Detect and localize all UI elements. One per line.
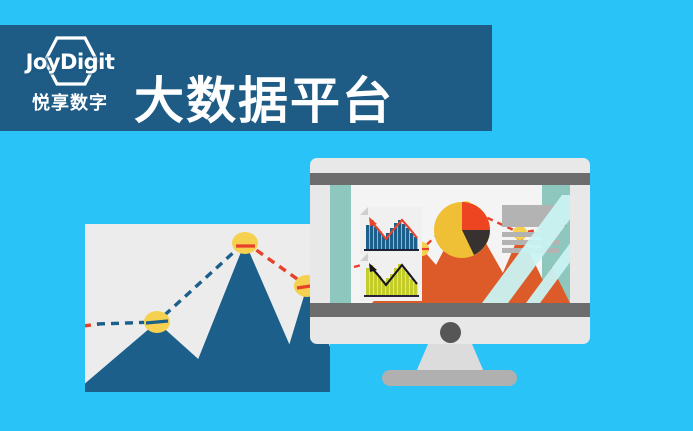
monitor-base xyxy=(382,370,517,386)
logo-wordmark: JoyDigit xyxy=(14,50,126,74)
page-title: 大数据平台 xyxy=(134,75,394,127)
illustration-canvas: JoyDigit 悦享数字 大数据平台 xyxy=(0,0,693,431)
blue-mountain-chart-panel xyxy=(85,224,330,392)
header-banner: JoyDigit 悦享数字 大数据平台 xyxy=(0,25,492,131)
monitor-stand xyxy=(310,158,590,386)
brand-logo: JoyDigit 悦享数字 xyxy=(14,33,126,123)
logo-subtitle: 悦享数字 xyxy=(14,89,126,115)
trend-line-red-stub xyxy=(85,324,99,326)
blue-mountain-svg xyxy=(85,224,330,392)
desktop-monitor xyxy=(310,158,590,386)
data-node xyxy=(232,232,258,254)
